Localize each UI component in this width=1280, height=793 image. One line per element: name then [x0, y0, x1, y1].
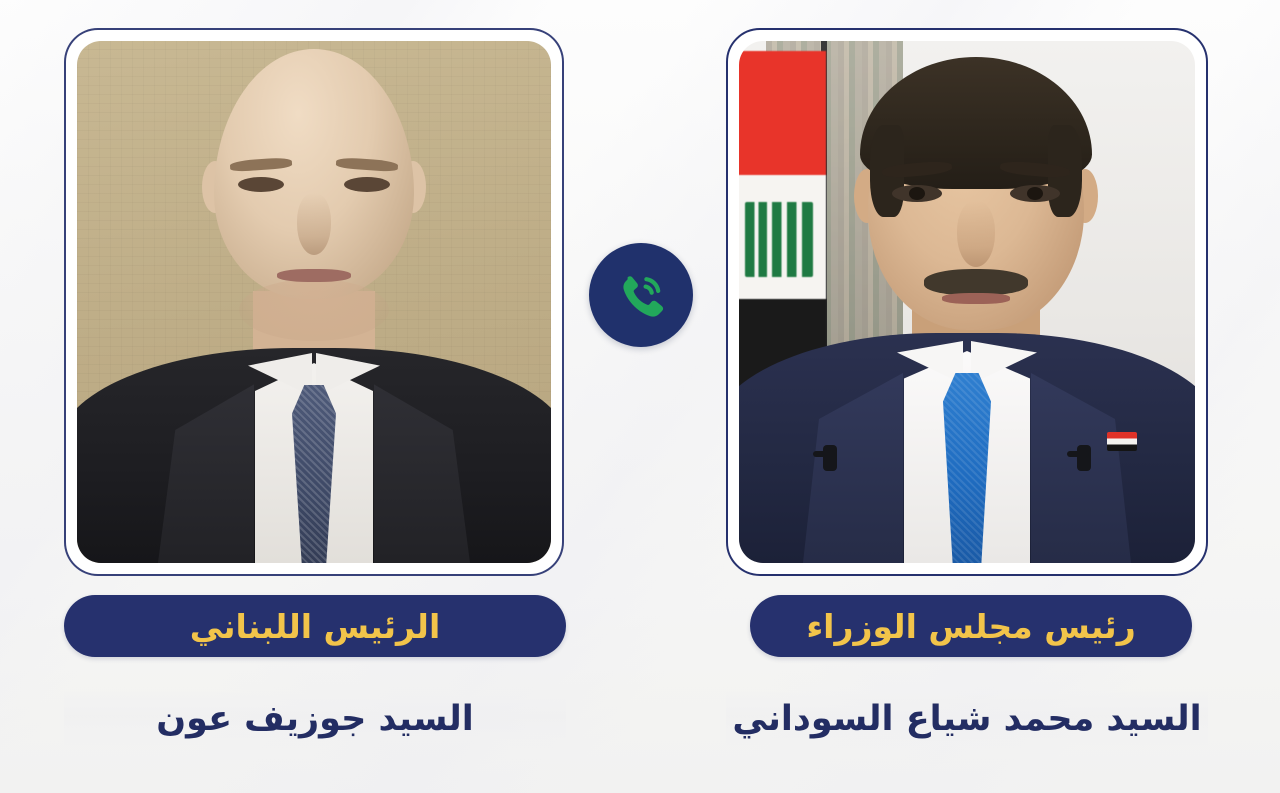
- phone-call-icon-svg: [613, 267, 669, 323]
- left-head: [214, 49, 414, 299]
- right-eye-left: [892, 185, 942, 202]
- right-moustache: [924, 269, 1028, 295]
- portrait-frame-left: [64, 28, 564, 576]
- phone-call-icon: [589, 243, 693, 347]
- person-name-left: السيد جوزيف عون: [64, 690, 566, 748]
- left-mouth: [277, 269, 351, 282]
- flag-lapel-pin-icon: [1107, 432, 1137, 451]
- left-nose: [297, 193, 331, 255]
- right-mouth: [942, 293, 1010, 304]
- left-eye-right: [344, 177, 390, 192]
- right-eye-right: [1010, 185, 1060, 202]
- lavalier-mic-right-icon: [1077, 445, 1091, 471]
- title-badge-right: رئيس مجلس الوزراء: [750, 595, 1192, 657]
- title-label-right: رئيس مجلس الوزراء: [806, 610, 1135, 643]
- title-label-left: الرئيس اللبناني: [190, 610, 441, 643]
- announcement-graphic: الرئيس اللبناني رئيس مجلس الوزراء السيد …: [0, 0, 1280, 793]
- right-nose: [957, 201, 995, 267]
- portrait-frame-right: [726, 28, 1208, 576]
- title-badge-left: الرئيس اللبناني: [64, 595, 566, 657]
- person-name-label-left: السيد جوزيف عون: [156, 702, 474, 737]
- portrait-photo-left: [77, 41, 551, 563]
- left-eye-left: [238, 177, 284, 192]
- lavalier-mic-left-icon: [823, 445, 837, 471]
- person-name-label-right: السيد محمد شياع السوداني: [732, 702, 1201, 737]
- left-chin: [239, 279, 389, 341]
- person-name-right: السيد محمد شياع السوداني: [726, 690, 1208, 748]
- portrait-photo-right: [739, 41, 1195, 563]
